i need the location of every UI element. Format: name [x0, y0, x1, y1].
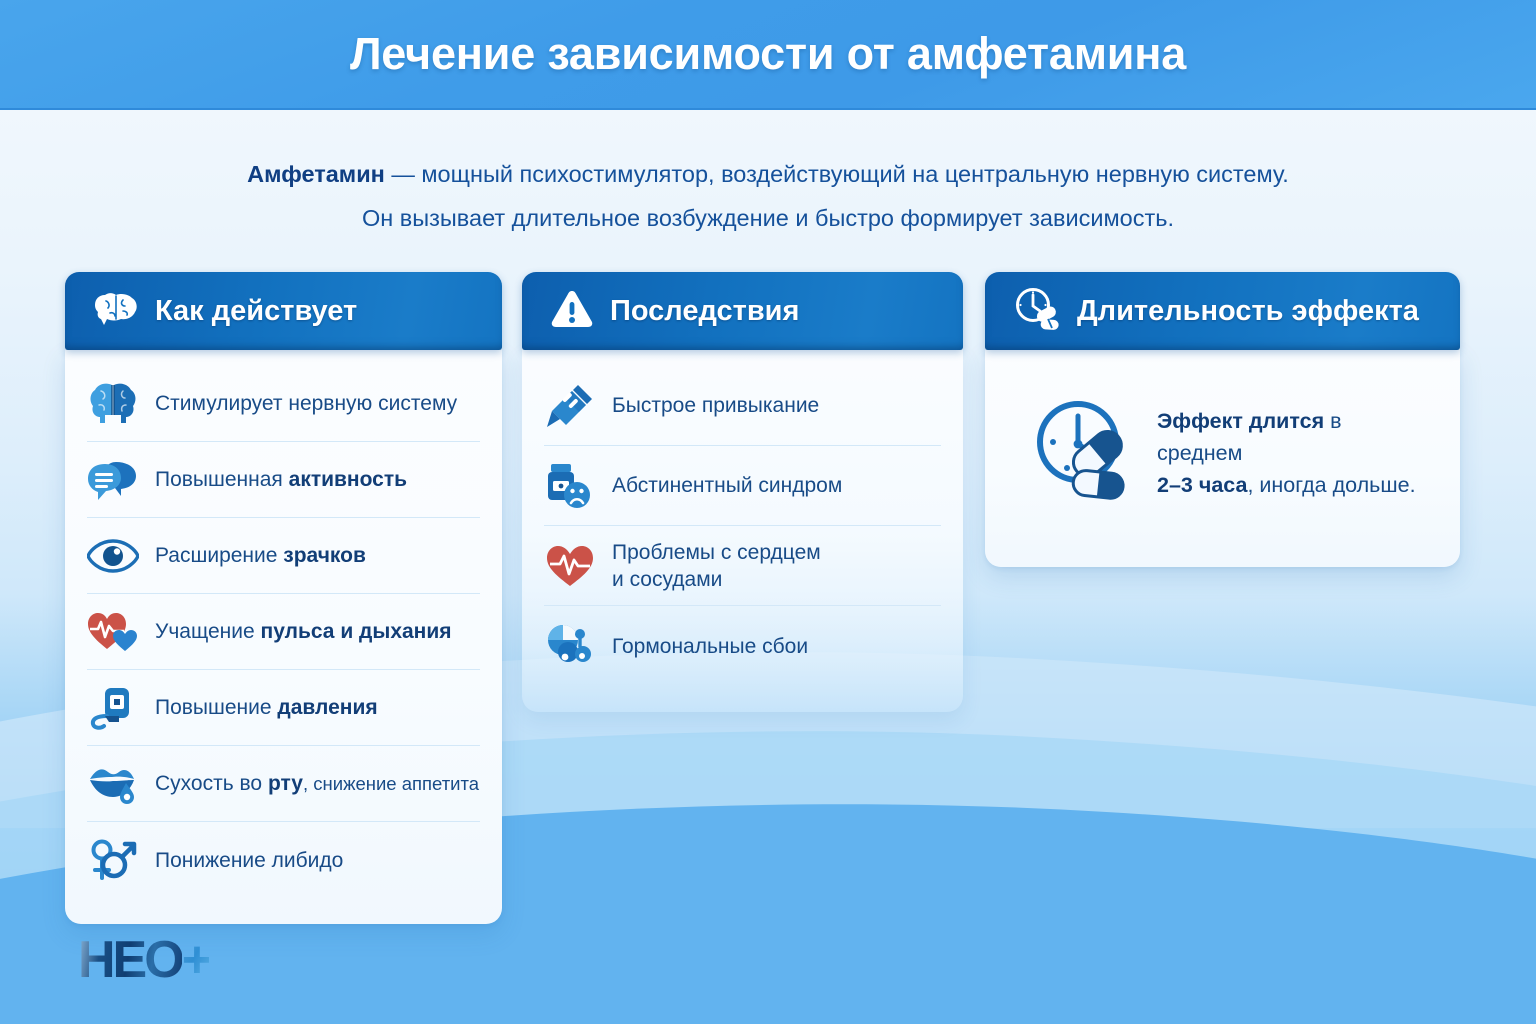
list-item: Гормональные сбои	[544, 606, 941, 686]
intro-line-1: Амфетамин — мощный психостимулятор, возд…	[0, 152, 1536, 196]
list-item-label: Учащение пульса и дыхания	[155, 618, 452, 645]
lips-drop-icon	[87, 763, 139, 805]
pill-bottle-sad-icon	[544, 462, 596, 510]
list-item: Повышенная активность	[87, 442, 480, 518]
list-item: Учащение пульса и дыхания	[87, 594, 480, 670]
hormone-molecule-icon	[544, 623, 596, 669]
heart-ecg-icon	[544, 544, 596, 588]
gender-symbols-icon	[87, 838, 139, 882]
list-item: Стимулирует нервную систему	[87, 366, 480, 442]
card-consequences: Последствия Быстрое привыкан	[522, 272, 963, 712]
clock-pills-icon	[1013, 287, 1061, 336]
clock-pills-large-icon	[1031, 398, 1137, 507]
logo-plus-icon: +	[182, 934, 209, 986]
card-effect-duration: Длительность эффекта	[985, 272, 1460, 567]
card-body-how-it-works: Стимулирует нервную систему Повышенная а…	[65, 350, 502, 924]
warning-triangle-icon	[550, 289, 594, 334]
infographic-canvas: Лечение зависимости от амфетамина Амфета…	[0, 0, 1536, 1024]
list-item-label: Расширение зрачков	[155, 542, 366, 569]
card-title: Как действует	[155, 295, 357, 328]
list-item-label: Проблемы с сердцем и сосудами	[612, 539, 821, 593]
heart-pulse-icon	[87, 611, 139, 653]
blood-pressure-monitor-icon	[87, 686, 139, 730]
card-body-consequences: Быстрое привыкание	[522, 350, 963, 712]
duration-block: Эффект длится в среднем2–3 часа, иногда …	[1007, 366, 1438, 541]
card-how-it-works: Как действует Стимулирует нервную систем…	[65, 272, 502, 924]
list-item-label: Сухость во рту, снижение аппетита	[155, 770, 479, 797]
list-item-label: Повышение давления	[155, 694, 378, 721]
page-title: Лечение зависимости от амфетамина	[350, 28, 1186, 80]
intro-line-2: Он вызывает длительное возбуждение и быс…	[0, 196, 1536, 240]
list-item-label: Повышенная активность	[155, 466, 407, 493]
intro-drug-name: Амфетамин	[247, 161, 385, 187]
list-item-label: Абстинентный синдром	[612, 472, 842, 499]
list-item: Абстинентный синдром	[544, 446, 941, 526]
list-item: Проблемы с сердцем и сосудами	[544, 526, 941, 606]
intro-paragraph: Амфетамин — мощный психостимулятор, возд…	[0, 152, 1536, 240]
list-item-label: Стимулирует нервную систему	[155, 390, 457, 417]
cards-container: Как действует Стимулирует нервную систем…	[0, 272, 1536, 972]
list-item: Сухость во рту, снижение аппетита	[87, 746, 480, 822]
list-item-label: Гормональные сбои	[612, 633, 808, 660]
brain-icon	[93, 289, 139, 334]
syringe-icon	[544, 383, 596, 429]
card-body-effect-duration: Эффект длится в среднем2–3 часа, иногда …	[985, 350, 1460, 567]
brain-icon	[87, 381, 139, 427]
card-header-effect-duration: Длительность эффекта	[985, 272, 1460, 350]
card-header-how-it-works: Как действует	[65, 272, 502, 350]
list-item-label: Быстрое привыкание	[612, 392, 819, 419]
list-item: Расширение зрачков	[87, 518, 480, 594]
duration-text: Эффект длится в среднем2–3 часа, иногда …	[1157, 405, 1428, 501]
chat-bubbles-icon	[87, 458, 139, 502]
eye-icon	[87, 539, 139, 573]
logo-wordmark: НЕО	[78, 934, 182, 986]
card-title: Последствия	[610, 295, 799, 328]
list-item-label: Понижение либидо	[155, 847, 343, 874]
page-header-band: Лечение зависимости от амфетамина	[0, 0, 1536, 110]
list-item: Быстрое привыкание	[544, 366, 941, 446]
brand-logo: НЕО +	[78, 934, 209, 986]
list-item: Понижение либидо	[87, 822, 480, 898]
card-header-consequences: Последствия	[522, 272, 963, 350]
list-item: Повышение давления	[87, 670, 480, 746]
intro-line-1-rest: — мощный психостимулятор, воздействующий…	[385, 161, 1289, 187]
card-title: Длительность эффекта	[1077, 295, 1419, 328]
